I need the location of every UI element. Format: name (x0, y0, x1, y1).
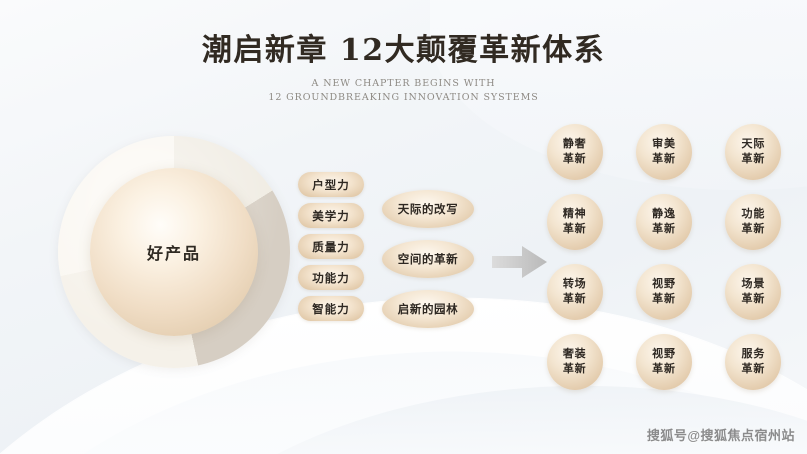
innovation-node-line2: 革新 (742, 222, 766, 237)
donut-center-label: 好产品 (147, 240, 201, 264)
capability-pill[interactable]: 美学力 (298, 203, 364, 228)
theme-ellipse[interactable]: 空间的革新 (382, 240, 474, 278)
innovation-node[interactable]: 转场革新 (547, 264, 603, 320)
innovation-node-line1: 静奢 (563, 137, 587, 152)
theme-ellipse-label: 启新的园林 (398, 301, 459, 317)
innovation-node-line1: 奢装 (563, 347, 587, 362)
capability-pill-label: 智能力 (312, 301, 350, 317)
innovation-node[interactable]: 天际革新 (725, 124, 781, 180)
theme-ellipse-label: 天际的改写 (398, 201, 459, 217)
innovation-node-line2: 革新 (652, 292, 676, 307)
capability-pill-label: 户型力 (312, 177, 350, 193)
innovation-node-line1: 视野 (652, 347, 676, 362)
watermark: 搜狐号@搜狐焦点宿州站 (647, 425, 795, 444)
innovation-node-line2: 革新 (742, 362, 766, 377)
theme-ellipse-list: 天际的改写 空间的革新 启新的园林 (382, 190, 474, 340)
innovation-node[interactable]: 视野革新 (636, 264, 692, 320)
innovation-node-line1: 功能 (742, 207, 766, 222)
donut-chart: 好产品 (58, 136, 290, 368)
capability-pill[interactable]: 功能力 (298, 265, 364, 290)
header: 潮启新章 12大颠覆革新体系 A NEW CHAPTER BEGINS WITH… (0, 34, 807, 106)
innovation-node-line1: 场景 (742, 277, 766, 292)
innovation-node-line1: 转场 (563, 277, 587, 292)
innovation-node[interactable]: 静奢革新 (547, 124, 603, 180)
innovation-node-line2: 革新 (563, 152, 587, 167)
page-title: 潮启新章 12大颠覆革新体系 (0, 34, 807, 69)
innovation-node[interactable]: 精神革新 (547, 194, 603, 250)
innovation-node-line1: 服务 (742, 347, 766, 362)
innovation-node-line2: 革新 (742, 152, 766, 167)
innovation-node-line2: 革新 (563, 292, 587, 307)
innovation-node[interactable]: 奢装革新 (547, 334, 603, 390)
innovation-node[interactable]: 服务革新 (725, 334, 781, 390)
innovation-node[interactable]: 视野革新 (636, 334, 692, 390)
page-subtitle-line1: A NEW CHAPTER BEGINS WITH (0, 77, 807, 92)
innovation-node-line1: 静逸 (652, 207, 676, 222)
innovation-node-line1: 精神 (563, 207, 587, 222)
innovation-node[interactable]: 静逸革新 (636, 194, 692, 250)
innovation-node-grid: 静奢革新 审美革新 天际革新 精神革新 静逸革新 功能革新 转场革新 视野革新 … (530, 124, 798, 404)
capability-pill-label: 功能力 (312, 270, 350, 286)
innovation-node[interactable]: 功能革新 (725, 194, 781, 250)
innovation-node-line2: 革新 (563, 222, 587, 237)
theme-ellipse[interactable]: 启新的园林 (382, 290, 474, 328)
innovation-node[interactable]: 审美革新 (636, 124, 692, 180)
capability-pill-label: 美学力 (312, 208, 350, 224)
innovation-node-line2: 革新 (652, 362, 676, 377)
capability-pill[interactable]: 户型力 (298, 172, 364, 197)
page-subtitle: A NEW CHAPTER BEGINS WITH 12 GROUNDBREAK… (0, 77, 807, 106)
theme-ellipse-label: 空间的革新 (398, 251, 459, 267)
innovation-node-line2: 革新 (652, 152, 676, 167)
innovation-node-line1: 天际 (742, 137, 766, 152)
innovation-node-line2: 革新 (563, 362, 587, 377)
page-subtitle-line2: 12 GROUNDBREAKING INNOVATION SYSTEMS (0, 91, 807, 106)
theme-ellipse[interactable]: 天际的改写 (382, 190, 474, 228)
donut-center-sphere: 好产品 (90, 168, 258, 336)
capability-pill-label: 质量力 (312, 239, 350, 255)
innovation-node-line1: 视野 (652, 277, 676, 292)
innovation-node-line2: 革新 (742, 292, 766, 307)
innovation-node[interactable]: 场景革新 (725, 264, 781, 320)
capability-pill[interactable]: 智能力 (298, 296, 364, 321)
capability-pill-list: 户型力 美学力 质量力 功能力 智能力 (298, 172, 364, 327)
innovation-node-line1: 审美 (652, 137, 676, 152)
capability-pill[interactable]: 质量力 (298, 234, 364, 259)
innovation-node-line2: 革新 (652, 222, 676, 237)
slide-root: 潮启新章 12大颠覆革新体系 A NEW CHAPTER BEGINS WITH… (0, 0, 807, 454)
